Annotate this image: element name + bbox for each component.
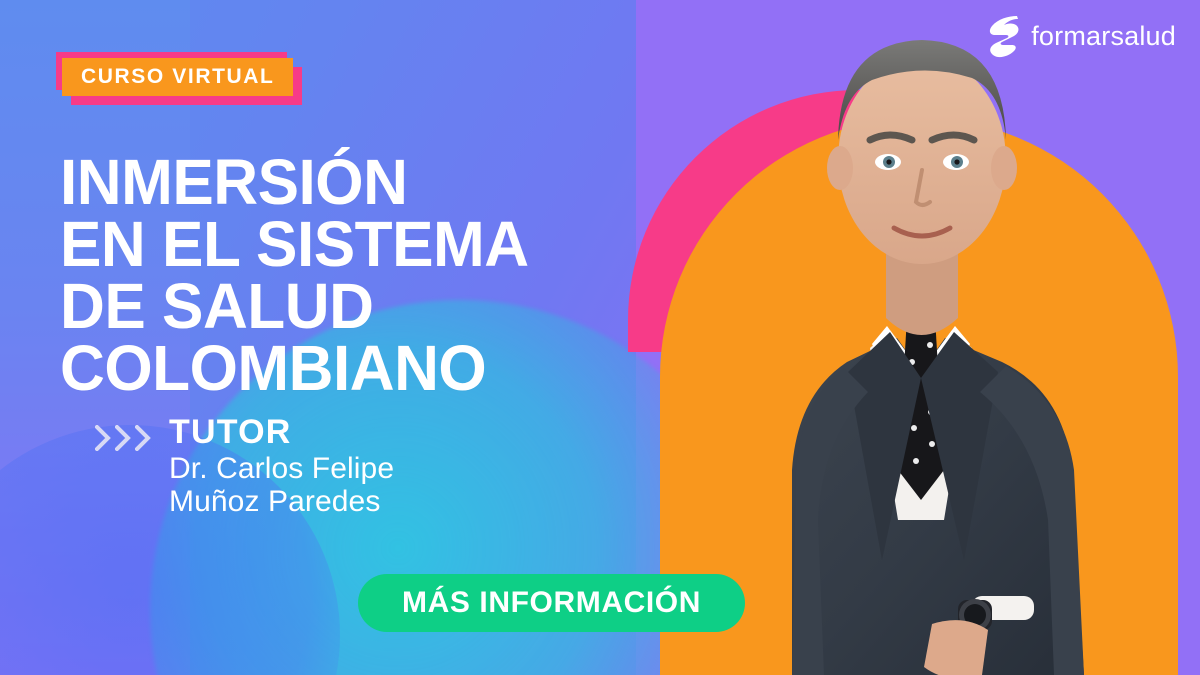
tutor-name: Dr. Carlos Felipe Muñoz Paredes — [169, 452, 394, 519]
brand-name: formarsalud — [1031, 23, 1176, 50]
tutor-label: TUTOR — [169, 415, 394, 450]
headline-line-2: EN EL SISTEMA — [60, 213, 529, 275]
tutor-name-line-1: Dr. Carlos Felipe — [169, 452, 394, 486]
double-chevron-right-icon — [95, 425, 153, 451]
tutor-photo — [672, 0, 1200, 675]
headline-line-1: INMERSIÓN — [60, 151, 529, 213]
tutor-name-line-2: Muñoz Paredes — [169, 485, 394, 519]
headline-line-4: COLOMBIANO — [60, 337, 529, 399]
tutor-block: TUTOR Dr. Carlos Felipe Muñoz Paredes — [95, 415, 394, 519]
badge-label: CURSO VIRTUAL — [62, 58, 293, 96]
promo-banner: formarsalud CURSO VIRTUAL INMERSIÓN EN E… — [0, 0, 1200, 675]
headline-line-3: DE SALUD — [60, 275, 529, 337]
formarsalud-flame-f-logo-icon — [986, 14, 1020, 58]
brand-logo[interactable]: formarsalud — [986, 14, 1176, 58]
more-information-button[interactable]: MÁS INFORMACIÓN — [358, 574, 745, 632]
course-type-badge: CURSO VIRTUAL — [62, 58, 293, 96]
page-title: INMERSIÓN EN EL SISTEMA DE SALUD COLOMBI… — [60, 151, 529, 399]
